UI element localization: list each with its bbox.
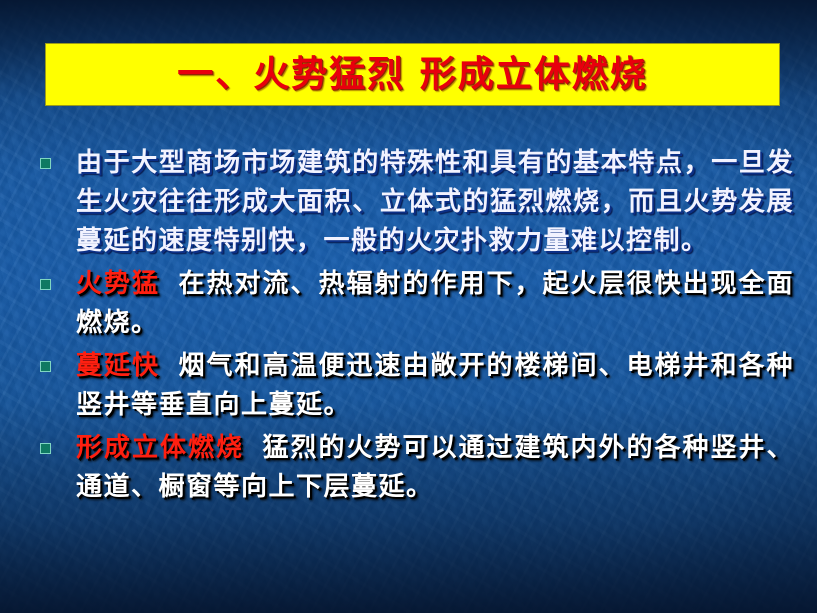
page-title: 一、火势猛烈 形成立体燃烧 (177, 57, 648, 93)
list-item-text: 蔓延快烟气和高温便迅速由敞开的楼梯间、电梯井和各种竖井等垂直向上蔓延。 (76, 347, 794, 425)
list-item-body: 由于大型商场市场建筑的特殊性和具有的基本特点，一旦发生火灾往往形成大面积、立体式… (76, 148, 794, 256)
square-bullet-icon (40, 158, 51, 169)
list-item-lead: 形成立体燃烧 (76, 433, 244, 463)
square-bullet-icon (40, 443, 51, 454)
list-item-body: 在热对流、热辐射的作用下，起火层很快出现全面燃烧。 (76, 269, 794, 338)
slide-body-content: 由于大型商场市场建筑的特殊性和具有的基本特点，一旦发生火灾往往形成大面积、立体式… (24, 144, 794, 511)
slide-title-banner: 一、火势猛烈 形成立体燃烧 (45, 43, 780, 106)
list-item: 形成立体燃烧猛烈的火势可以通过建筑内外的各种竖井、通道、橱窗等向上下层蔓延。 (24, 429, 794, 507)
list-item-lead: 火势猛 (76, 269, 160, 299)
presentation-slide: 一、火势猛烈 形成立体燃烧 由于大型商场市场建筑的特殊性和具有的基本特点，一旦发… (0, 0, 817, 613)
list-item-text: 形成立体燃烧猛烈的火势可以通过建筑内外的各种竖井、通道、橱窗等向上下层蔓延。 (76, 429, 794, 507)
list-item-text: 火势猛在热对流、热辐射的作用下，起火层很快出现全面燃烧。 (76, 265, 794, 343)
square-bullet-icon (40, 279, 51, 290)
list-item-text: 由于大型商场市场建筑的特殊性和具有的基本特点，一旦发生火灾往往形成大面积、立体式… (76, 144, 794, 261)
list-item-lead: 蔓延快 (76, 351, 160, 381)
list-item: 由于大型商场市场建筑的特殊性和具有的基本特点，一旦发生火灾往往形成大面积、立体式… (24, 144, 794, 261)
square-bullet-icon (40, 361, 51, 372)
list-item: 蔓延快烟气和高温便迅速由敞开的楼梯间、电梯井和各种竖井等垂直向上蔓延。 (24, 347, 794, 425)
list-item: 火势猛在热对流、热辐射的作用下，起火层很快出现全面燃烧。 (24, 265, 794, 343)
list-item-body: 烟气和高温便迅速由敞开的楼梯间、电梯井和各种竖井等垂直向上蔓延。 (76, 351, 794, 420)
